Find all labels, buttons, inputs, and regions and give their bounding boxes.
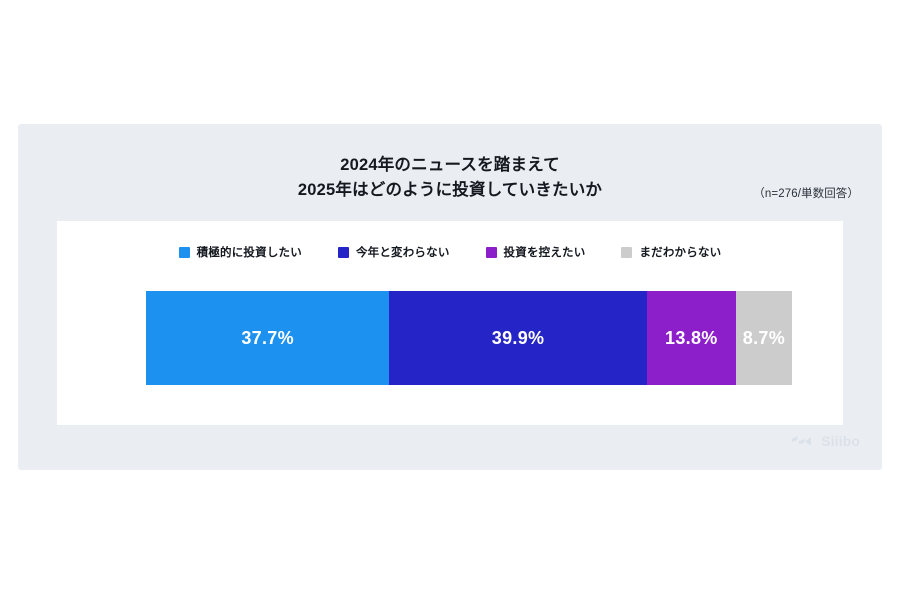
legend-swatch-icon — [621, 247, 632, 258]
legend-swatch-icon — [179, 247, 190, 258]
legend-item-2[interactable]: 投資を控えたい — [486, 244, 586, 260]
bar-segment-2[interactable]: 13.8% — [647, 291, 736, 385]
chart-panel: 2024年のニュースを踏まえて 2025年はどのように投資していきたいか （n=… — [18, 124, 882, 470]
bar-segment-0[interactable]: 37.7% — [146, 291, 389, 385]
chart-legend: 積極的に投資したい 今年と変わらない 投資を控えたい まだわからない — [57, 244, 843, 260]
legend-swatch-icon — [338, 247, 349, 258]
bar-segment-1[interactable]: 39.9% — [389, 291, 646, 385]
bar-segment-value: 8.7% — [743, 328, 785, 349]
bar-segment-3[interactable]: 8.7% — [736, 291, 792, 385]
legend-item-label: まだわからない — [639, 244, 721, 260]
legend-item-0[interactable]: 積極的に投資したい — [179, 244, 302, 260]
legend-item-label: 今年と変わらない — [356, 244, 450, 260]
legend-swatch-icon — [486, 247, 497, 258]
chart-card: 積極的に投資したい 今年と変わらない 投資を控えたい まだわからない 37.7%… — [57, 221, 843, 425]
sample-size-note: （n=276/単数回答） — [753, 185, 859, 201]
stacked-bar-chart: 37.7% 39.9% 13.8% 8.7% — [146, 291, 792, 385]
legend-item-1[interactable]: 今年と変わらない — [338, 244, 450, 260]
bar-segment-value: 39.9% — [492, 328, 545, 349]
chart-header: 2024年のニュースを踏まえて 2025年はどのように投資していきたいか （n=… — [18, 124, 882, 221]
watermark: Siiibo — [791, 434, 860, 449]
watermark-text: Siiibo — [821, 434, 860, 449]
bar-segment-value: 37.7% — [241, 328, 294, 349]
bar-segment-value: 13.8% — [665, 328, 718, 349]
legend-item-3[interactable]: まだわからない — [621, 244, 721, 260]
siiibo-logo-icon — [791, 435, 817, 448]
legend-item-label: 積極的に投資したい — [197, 244, 302, 260]
legend-item-label: 投資を控えたい — [504, 244, 586, 260]
